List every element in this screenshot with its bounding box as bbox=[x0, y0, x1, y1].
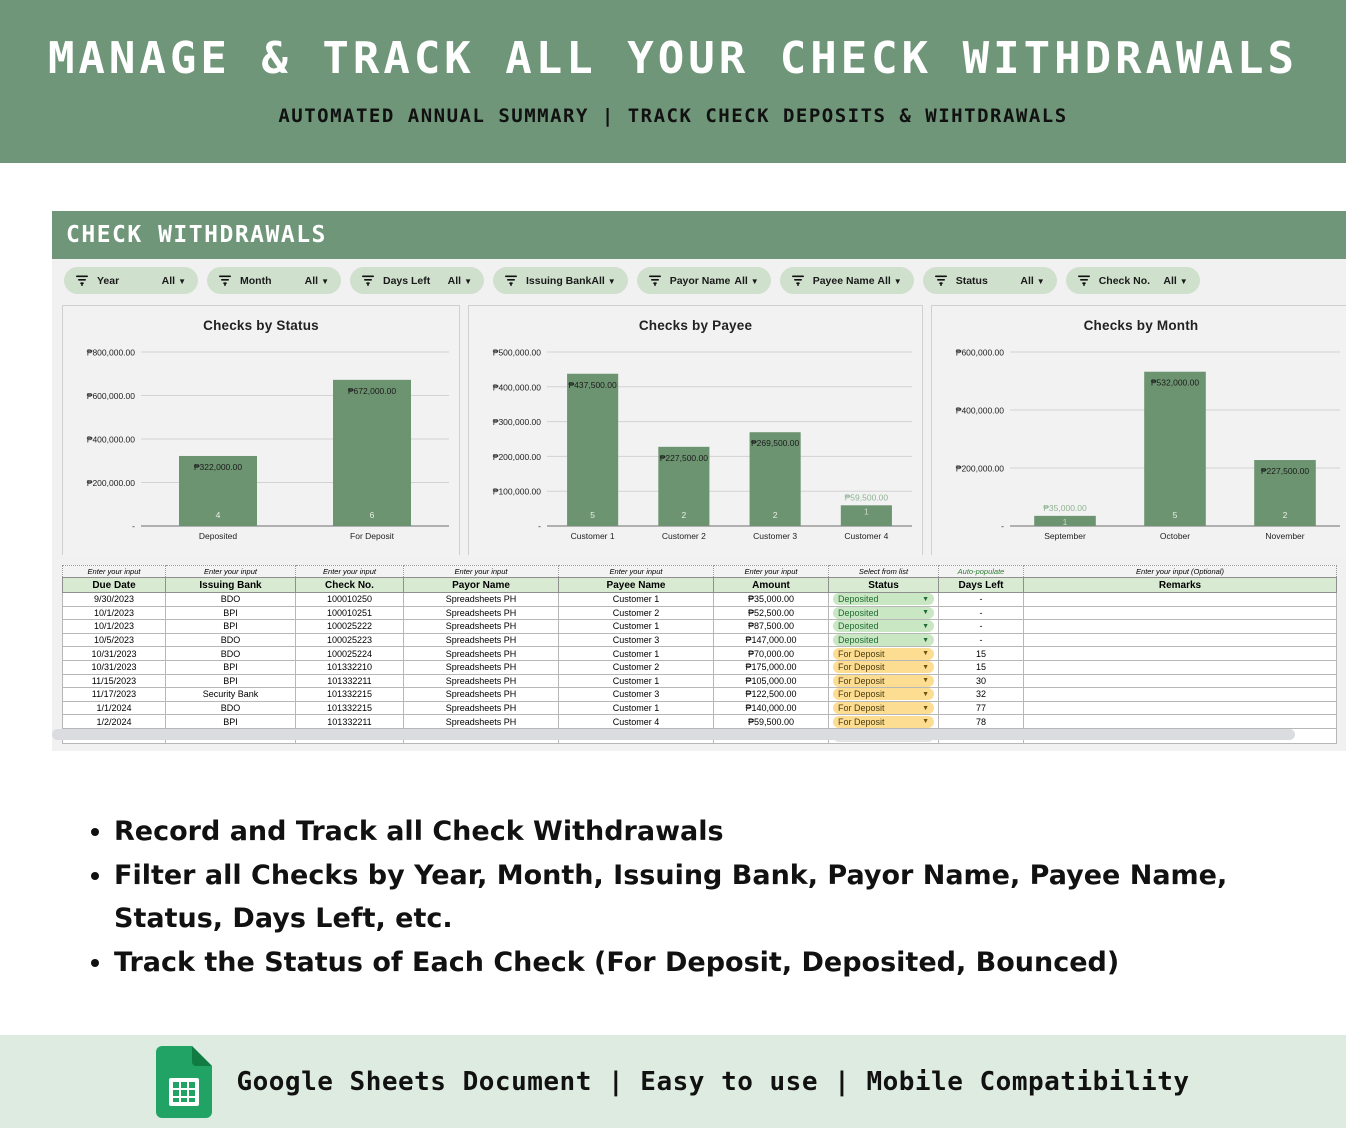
svg-text:Customer 4: Customer 4 bbox=[844, 531, 888, 541]
chevron-down-icon: ▼ bbox=[922, 623, 929, 630]
cell-days-left: 15 bbox=[939, 660, 1024, 674]
cell-payor-name: Spreadsheets PH bbox=[404, 688, 559, 702]
filter-chip-left: Days Left bbox=[362, 275, 430, 287]
svg-text:₱532,000.00: ₱532,000.00 bbox=[1151, 378, 1199, 388]
filter-chip-label: Month bbox=[240, 275, 272, 287]
table-row[interactable]: 9/30/2023BDO100010250Spreadsheets PHCust… bbox=[63, 593, 1337, 607]
cell-status[interactable]: For Deposit▼ bbox=[829, 688, 939, 702]
chart-card-checks-by-month: Checks by Month ₱200,000.00₱400,000.00₱6… bbox=[931, 305, 1346, 555]
cell-payor-name: Spreadsheets PH bbox=[404, 674, 559, 688]
cell-check-no: 100010251 bbox=[296, 606, 404, 620]
cell-due-date: 10/5/2023 bbox=[63, 633, 166, 647]
svg-text:2: 2 bbox=[682, 510, 687, 520]
cell-check-no: 101332215 bbox=[296, 688, 404, 702]
cell-payee-name: Customer 1 bbox=[559, 620, 714, 634]
status-label: For Deposit bbox=[838, 649, 885, 659]
feature-list: Record and Track all Check WithdrawalsFi… bbox=[0, 788, 1346, 985]
chart-card-checks-by-status: Checks by Status ₱200,000.00₱400,000.00₱… bbox=[62, 305, 460, 555]
table-column-header: Status bbox=[829, 578, 939, 593]
cell-check-no: 100025222 bbox=[296, 620, 404, 634]
cell-days-left: 32 bbox=[939, 688, 1024, 702]
cell-amount: ₱122,500.00 bbox=[714, 688, 829, 702]
cell-remarks[interactable] bbox=[1024, 674, 1337, 688]
hero-banner: MANAGE & TRACK ALL YOUR CHECK WITHDRAWAL… bbox=[0, 0, 1346, 163]
cell-payor-name: Spreadsheets PH bbox=[404, 633, 559, 647]
cell-due-date: 10/31/2023 bbox=[63, 647, 166, 661]
filter-funnel-icon bbox=[792, 275, 804, 286]
cell-amount: ₱87,500.00 bbox=[714, 620, 829, 634]
filter-chip-value: All▼ bbox=[162, 275, 186, 287]
filter-chip-label: Check No. bbox=[1099, 275, 1150, 287]
cell-issuing-bank: BPI bbox=[166, 674, 296, 688]
chevron-down-icon: ▼ bbox=[922, 718, 929, 725]
cell-payee-name: Customer 1 bbox=[559, 647, 714, 661]
svg-text:-: - bbox=[1001, 521, 1004, 531]
svg-text:₱200,000.00: ₱200,000.00 bbox=[956, 464, 1004, 474]
chart-plot-payee: ₱100,000.00₱200,000.00₱300,000.00₱400,00… bbox=[469, 340, 922, 554]
svg-text:₱800,000.00: ₱800,000.00 bbox=[87, 348, 135, 358]
filter-funnel-icon bbox=[219, 275, 231, 286]
cell-due-date: 1/1/2024 bbox=[63, 701, 166, 715]
cell-due-date: 11/17/2023 bbox=[63, 688, 166, 702]
cell-payor-name: Spreadsheets PH bbox=[404, 715, 559, 729]
table-column-header: Remarks bbox=[1024, 578, 1337, 593]
status-label: For Deposit bbox=[838, 676, 885, 686]
table-hint-cell: Enter your input bbox=[63, 566, 166, 578]
svg-text:2: 2 bbox=[1283, 510, 1288, 520]
svg-text:September: September bbox=[1044, 531, 1086, 541]
filter-chip-value: All▼ bbox=[1163, 275, 1187, 287]
cell-remarks[interactable] bbox=[1024, 633, 1337, 647]
status-label: For Deposit bbox=[838, 703, 885, 713]
cell-payee-name: Customer 1 bbox=[559, 593, 714, 607]
filter-chip-year[interactable]: YearAll▼ bbox=[64, 267, 198, 294]
chart-plot-status: ₱200,000.00₱400,000.00₱600,000.00₱800,00… bbox=[63, 340, 459, 554]
status-dropdown[interactable]: For Deposit▼ bbox=[833, 661, 934, 673]
chevron-down-icon: ▼ bbox=[922, 705, 929, 712]
cell-remarks[interactable] bbox=[1024, 647, 1337, 661]
table-column-header: Payee Name bbox=[559, 578, 714, 593]
svg-text:2: 2 bbox=[773, 510, 778, 520]
cell-remarks[interactable] bbox=[1024, 593, 1337, 607]
table-column-header: Issuing Bank bbox=[166, 578, 296, 593]
svg-text:-: - bbox=[132, 521, 135, 531]
dashboard-panel: CHECK WITHDRAWALS YearAll▼MonthAll▼Days … bbox=[52, 211, 1346, 751]
status-label: For Deposit bbox=[838, 662, 885, 672]
status-dropdown[interactable]: Deposited▼ bbox=[833, 593, 934, 605]
filter-chip-label: Status bbox=[956, 275, 988, 287]
filter-funnel-icon bbox=[649, 275, 661, 286]
google-sheets-icon bbox=[156, 1046, 212, 1118]
cell-due-date: 10/1/2023 bbox=[63, 620, 166, 634]
chart-title-payee: Checks by Payee bbox=[469, 306, 922, 333]
dashboard-header: CHECK WITHDRAWALS bbox=[52, 211, 1346, 259]
table-row[interactable]: 11/15/2023BPI101332211Spreadsheets PHCus… bbox=[63, 674, 1337, 688]
cell-status[interactable]: For Deposit▼ bbox=[829, 715, 939, 729]
cell-amount: ₱52,500.00 bbox=[714, 606, 829, 620]
filter-chip-value: All▼ bbox=[1020, 275, 1044, 287]
filter-bar: YearAll▼MonthAll▼Days LeftAll▼Issuing Ba… bbox=[52, 259, 1346, 301]
table-hint-cell: Enter your input (Optional) bbox=[1024, 566, 1337, 578]
chevron-down-icon: ▼ bbox=[894, 277, 902, 286]
svg-text:₱600,000.00: ₱600,000.00 bbox=[87, 391, 135, 401]
table-hint-cell: Enter your input bbox=[404, 566, 559, 578]
cell-status[interactable]: For Deposit▼ bbox=[829, 647, 939, 661]
status-label: Deposited bbox=[838, 621, 879, 631]
cell-payor-name: Spreadsheets PH bbox=[404, 647, 559, 661]
filter-chip-left: Payor Name bbox=[649, 275, 731, 287]
svg-text:₱400,000.00: ₱400,000.00 bbox=[493, 382, 541, 392]
filter-chip-left: Payee Name bbox=[792, 275, 875, 287]
chevron-down-icon: ▼ bbox=[922, 609, 929, 616]
cell-payee-name: Customer 3 bbox=[559, 688, 714, 702]
checks-table: Enter your inputEnter your inputEnter yo… bbox=[62, 565, 1337, 744]
cell-payor-name: Spreadsheets PH bbox=[404, 606, 559, 620]
cell-payor-name: Spreadsheets PH bbox=[404, 701, 559, 715]
filter-chip-left: Status bbox=[935, 275, 988, 287]
cell-issuing-bank: BDO bbox=[166, 633, 296, 647]
svg-text:5: 5 bbox=[1173, 510, 1178, 520]
table-row[interactable]: 10/1/2023BPI100010251Spreadsheets PHCust… bbox=[63, 606, 1337, 620]
chevron-down-icon: ▼ bbox=[464, 277, 472, 286]
cell-amount: ₱140,000.00 bbox=[714, 701, 829, 715]
status-dropdown[interactable]: Deposited▼ bbox=[833, 620, 934, 632]
cell-status[interactable]: Deposited▼ bbox=[829, 620, 939, 634]
dashboard-title: CHECK WITHDRAWALS bbox=[66, 222, 327, 248]
svg-text:₱500,000.00: ₱500,000.00 bbox=[493, 348, 541, 358]
filter-funnel-icon bbox=[505, 275, 517, 286]
horizontal-scrollbar[interactable] bbox=[52, 729, 1295, 740]
filter-funnel-icon bbox=[935, 275, 947, 286]
svg-text:5: 5 bbox=[590, 510, 595, 520]
status-dropdown[interactable]: Deposited▼ bbox=[833, 634, 934, 646]
filter-chip-days-left[interactable]: Days LeftAll▼ bbox=[350, 267, 484, 294]
filter-chip-left: Issuing Bank bbox=[505, 275, 591, 287]
cell-payee-name: Customer 1 bbox=[559, 674, 714, 688]
status-dropdown[interactable]: Deposited▼ bbox=[833, 607, 934, 619]
table-hint-cell: Enter your input bbox=[296, 566, 404, 578]
filter-funnel-icon bbox=[1078, 275, 1090, 286]
chart-title-month: Checks by Month bbox=[932, 306, 1346, 333]
svg-text:4: 4 bbox=[216, 510, 221, 520]
table-row[interactable]: 10/1/2023BPI100025222Spreadsheets PHCust… bbox=[63, 620, 1337, 634]
cell-issuing-bank: Security Bank bbox=[166, 688, 296, 702]
cell-status[interactable]: Deposited▼ bbox=[829, 633, 939, 647]
filter-chip-value: All▼ bbox=[877, 275, 901, 287]
table-column-header: Days Left bbox=[939, 578, 1024, 593]
svg-text:₱600,000.00: ₱600,000.00 bbox=[956, 348, 1004, 358]
filter-chip-check-no[interactable]: Check No.All▼ bbox=[1066, 267, 1200, 294]
status-label: For Deposit bbox=[838, 689, 885, 699]
svg-text:1: 1 bbox=[864, 506, 869, 516]
cell-remarks[interactable] bbox=[1024, 620, 1337, 634]
cell-payor-name: Spreadsheets PH bbox=[404, 620, 559, 634]
cell-check-no: 100010250 bbox=[296, 593, 404, 607]
filter-chip-label: Year bbox=[97, 275, 119, 287]
svg-text:6: 6 bbox=[370, 510, 375, 520]
chevron-down-icon: ▼ bbox=[1037, 277, 1045, 286]
filter-chip-status[interactable]: StatusAll▼ bbox=[923, 267, 1057, 294]
table-hint-cell: Enter your input bbox=[559, 566, 714, 578]
svg-text:₱227,500.00: ₱227,500.00 bbox=[660, 453, 708, 463]
cell-payor-name: Spreadsheets PH bbox=[404, 593, 559, 607]
table-body: 9/30/2023BDO100010250Spreadsheets PHCust… bbox=[63, 593, 1337, 744]
svg-text:₱300,000.00: ₱300,000.00 bbox=[493, 417, 541, 427]
table-hint-cell: Select from list bbox=[829, 566, 939, 578]
cell-days-left: 77 bbox=[939, 701, 1024, 715]
table-hint-cell: Enter your input bbox=[714, 566, 829, 578]
table-row[interactable]: 10/31/2023BPI101332210Spreadsheets PHCus… bbox=[63, 660, 1337, 674]
filter-chip-label: Issuing Bank bbox=[526, 275, 591, 287]
cell-due-date: 10/31/2023 bbox=[63, 660, 166, 674]
cell-payee-name: Customer 4 bbox=[559, 715, 714, 729]
table-hint-row: Enter your inputEnter your inputEnter yo… bbox=[63, 566, 1337, 578]
cell-days-left: 15 bbox=[939, 647, 1024, 661]
cell-status[interactable]: For Deposit▼ bbox=[829, 674, 939, 688]
chart-plot-month: ₱200,000.00₱400,000.00₱600,000.00-₱35,00… bbox=[932, 340, 1346, 554]
footer-bar: Google Sheets Document | Easy to use | M… bbox=[0, 1035, 1346, 1128]
chevron-down-icon: ▼ bbox=[922, 677, 929, 684]
svg-text:₱672,000.00: ₱672,000.00 bbox=[348, 386, 396, 396]
checks-table-wrap: Enter your inputEnter your inputEnter yo… bbox=[62, 565, 1336, 744]
chevron-down-icon: ▼ bbox=[922, 664, 929, 671]
filter-chip-payor-name[interactable]: Payor NameAll▼ bbox=[637, 267, 771, 294]
table-row[interactable]: 1/1/2024BDO101332215Spreadsheets PHCusto… bbox=[63, 701, 1337, 715]
chevron-down-icon: ▼ bbox=[922, 637, 929, 644]
filter-funnel-icon bbox=[76, 275, 88, 286]
cell-issuing-bank: BPI bbox=[166, 660, 296, 674]
cell-check-no: 100025223 bbox=[296, 633, 404, 647]
cell-issuing-bank: BDO bbox=[166, 701, 296, 715]
status-label: For Deposit bbox=[838, 717, 885, 727]
chart-card-checks-by-payee: Checks by Payee ₱100,000.00₱200,000.00₱3… bbox=[468, 305, 923, 555]
svg-text:Customer 3: Customer 3 bbox=[753, 531, 797, 541]
table-column-header: Check No. bbox=[296, 578, 404, 593]
cell-remarks[interactable] bbox=[1024, 606, 1337, 620]
table-column-header: Amount bbox=[714, 578, 829, 593]
table-header-row: Due DateIssuing BankCheck No.Payor NameP… bbox=[63, 578, 1337, 593]
cell-check-no: 101332211 bbox=[296, 674, 404, 688]
table-row[interactable]: 10/31/2023BDO100025224Spreadsheets PHCus… bbox=[63, 647, 1337, 661]
svg-text:₱227,500.00: ₱227,500.00 bbox=[1261, 466, 1309, 476]
filter-chip-value: All▼ bbox=[734, 275, 758, 287]
cell-payee-name: Customer 2 bbox=[559, 606, 714, 620]
cell-check-no: 100025224 bbox=[296, 647, 404, 661]
chevron-down-icon: ▼ bbox=[178, 277, 186, 286]
filter-chip-value: All▼ bbox=[448, 275, 472, 287]
cell-status[interactable]: For Deposit▼ bbox=[829, 701, 939, 715]
status-dropdown[interactable]: For Deposit▼ bbox=[833, 716, 934, 728]
chevron-down-icon: ▼ bbox=[321, 277, 329, 286]
cell-check-no: 101332211 bbox=[296, 715, 404, 729]
chevron-down-icon: ▼ bbox=[1180, 277, 1188, 286]
filter-chip-left: Month bbox=[219, 275, 272, 287]
cell-days-left: - bbox=[939, 593, 1024, 607]
filter-chip-left: Check No. bbox=[1078, 275, 1150, 287]
table-row[interactable]: 1/2/2024BPI101332211Spreadsheets PHCusto… bbox=[63, 715, 1337, 729]
status-label: Deposited bbox=[838, 594, 879, 604]
status-dropdown[interactable]: For Deposit▼ bbox=[833, 648, 934, 660]
filter-chip-value: All▼ bbox=[305, 275, 329, 287]
svg-text:₱322,000.00: ₱322,000.00 bbox=[194, 462, 242, 472]
cell-amount: ₱105,000.00 bbox=[714, 674, 829, 688]
cell-due-date: 9/30/2023 bbox=[63, 593, 166, 607]
cell-due-date: 1/2/2024 bbox=[63, 715, 166, 729]
svg-text:₱200,000.00: ₱200,000.00 bbox=[87, 478, 135, 488]
svg-text:Deposited: Deposited bbox=[199, 531, 238, 541]
cell-days-left: 30 bbox=[939, 674, 1024, 688]
table-hint-cell: Enter your input bbox=[166, 566, 296, 578]
cell-status[interactable]: Deposited▼ bbox=[829, 593, 939, 607]
chevron-down-icon: ▼ bbox=[751, 277, 759, 286]
cell-remarks[interactable] bbox=[1024, 660, 1337, 674]
svg-text:₱100,000.00: ₱100,000.00 bbox=[493, 487, 541, 497]
cell-due-date: 10/1/2023 bbox=[63, 606, 166, 620]
feature-bullet: Track the Status of Each Check (For Depo… bbox=[114, 941, 1314, 985]
filter-chip-issuing-bank[interactable]: Issuing BankAll▼ bbox=[493, 267, 628, 294]
filter-chip-payee-name[interactable]: Payee NameAll▼ bbox=[780, 267, 914, 294]
table-row[interactable]: 10/5/2023BDO100025223Spreadsheets PHCust… bbox=[63, 633, 1337, 647]
svg-text:-: - bbox=[538, 521, 541, 531]
cell-amount: ₱147,000.00 bbox=[714, 633, 829, 647]
svg-text:For Deposit: For Deposit bbox=[350, 531, 395, 541]
filter-chip-label: Payor Name bbox=[670, 275, 731, 287]
cell-amount: ₱70,000.00 bbox=[714, 647, 829, 661]
chart-title-status: Checks by Status bbox=[63, 306, 459, 333]
svg-text:November: November bbox=[1265, 531, 1304, 541]
status-label: Deposited bbox=[838, 635, 879, 645]
cell-remarks[interactable] bbox=[1024, 701, 1337, 715]
feature-bullet: Filter all Checks by Year, Month, Issuin… bbox=[114, 854, 1314, 941]
cell-check-no: 101332215 bbox=[296, 701, 404, 715]
cell-payee-name: Customer 2 bbox=[559, 660, 714, 674]
filter-chip-label: Payee Name bbox=[813, 275, 875, 287]
svg-text:₱269,500.00: ₱269,500.00 bbox=[751, 438, 799, 448]
cell-days-left: 78 bbox=[939, 715, 1024, 729]
filter-chip-left: Year bbox=[76, 275, 119, 287]
cell-check-no: 101332210 bbox=[296, 660, 404, 674]
cell-status[interactable]: For Deposit▼ bbox=[829, 660, 939, 674]
hero-subtitle: AUTOMATED ANNUAL SUMMARY | TRACK CHECK D… bbox=[278, 105, 1067, 127]
cell-issuing-bank: BPI bbox=[166, 606, 296, 620]
cell-days-left: - bbox=[939, 633, 1024, 647]
svg-text:Customer 1: Customer 1 bbox=[571, 531, 615, 541]
svg-text:₱59,500.00: ₱59,500.00 bbox=[845, 492, 889, 502]
table-column-header: Due Date bbox=[63, 578, 166, 593]
svg-text:₱200,000.00: ₱200,000.00 bbox=[493, 452, 541, 462]
svg-text:₱400,000.00: ₱400,000.00 bbox=[956, 406, 1004, 416]
svg-text:₱437,500.00: ₱437,500.00 bbox=[569, 380, 617, 390]
svg-text:Customer 2: Customer 2 bbox=[662, 531, 706, 541]
dashboard-shell: CHECK WITHDRAWALS YearAll▼MonthAll▼Days … bbox=[0, 163, 1346, 788]
cell-payor-name: Spreadsheets PH bbox=[404, 660, 559, 674]
cell-issuing-bank: BDO bbox=[166, 647, 296, 661]
cell-remarks[interactable] bbox=[1024, 688, 1337, 702]
cell-issuing-bank: BPI bbox=[166, 715, 296, 729]
table-row[interactable]: 11/17/2023Security Bank101332215Spreadsh… bbox=[63, 688, 1337, 702]
status-dropdown[interactable]: For Deposit▼ bbox=[833, 675, 934, 687]
status-dropdown[interactable]: For Deposit▼ bbox=[833, 702, 934, 714]
cell-issuing-bank: BDO bbox=[166, 593, 296, 607]
status-label: Deposited bbox=[838, 608, 879, 618]
cell-due-date: 11/15/2023 bbox=[63, 674, 166, 688]
chevron-down-icon: ▼ bbox=[922, 691, 929, 698]
svg-text:October: October bbox=[1160, 531, 1190, 541]
svg-text:₱400,000.00: ₱400,000.00 bbox=[87, 435, 135, 445]
svg-text:1: 1 bbox=[1063, 517, 1068, 527]
charts-row: Checks by Status ₱200,000.00₱400,000.00₱… bbox=[52, 301, 1346, 555]
chevron-down-icon: ▼ bbox=[922, 596, 929, 603]
cell-payee-name: Customer 1 bbox=[559, 701, 714, 715]
cell-amount: ₱35,000.00 bbox=[714, 593, 829, 607]
cell-payee-name: Customer 3 bbox=[559, 633, 714, 647]
table-hint-cell: Auto-populate bbox=[939, 566, 1024, 578]
cell-amount: ₱59,500.00 bbox=[714, 715, 829, 729]
feature-bullet: Record and Track all Check Withdrawals bbox=[114, 810, 1314, 854]
chevron-down-icon: ▼ bbox=[922, 650, 929, 657]
hero-title: MANAGE & TRACK ALL YOUR CHECK WITHDRAWAL… bbox=[48, 36, 1298, 82]
cell-remarks[interactable] bbox=[1024, 715, 1337, 729]
cell-status[interactable]: Deposited▼ bbox=[829, 606, 939, 620]
filter-funnel-icon bbox=[362, 275, 374, 286]
filter-chip-value: All▼ bbox=[591, 275, 615, 287]
filter-chip-month[interactable]: MonthAll▼ bbox=[207, 267, 341, 294]
cell-amount: ₱175,000.00 bbox=[714, 660, 829, 674]
table-column-header: Payor Name bbox=[404, 578, 559, 593]
cell-days-left: - bbox=[939, 606, 1024, 620]
status-dropdown[interactable]: For Deposit▼ bbox=[833, 688, 934, 700]
filter-chip-label: Days Left bbox=[383, 275, 430, 287]
svg-text:₱35,000.00: ₱35,000.00 bbox=[1043, 503, 1087, 513]
chevron-down-icon: ▼ bbox=[608, 277, 616, 286]
cell-days-left: - bbox=[939, 620, 1024, 634]
cell-issuing-bank: BPI bbox=[166, 620, 296, 634]
footer-text: Google Sheets Document | Easy to use | M… bbox=[236, 1067, 1189, 1097]
